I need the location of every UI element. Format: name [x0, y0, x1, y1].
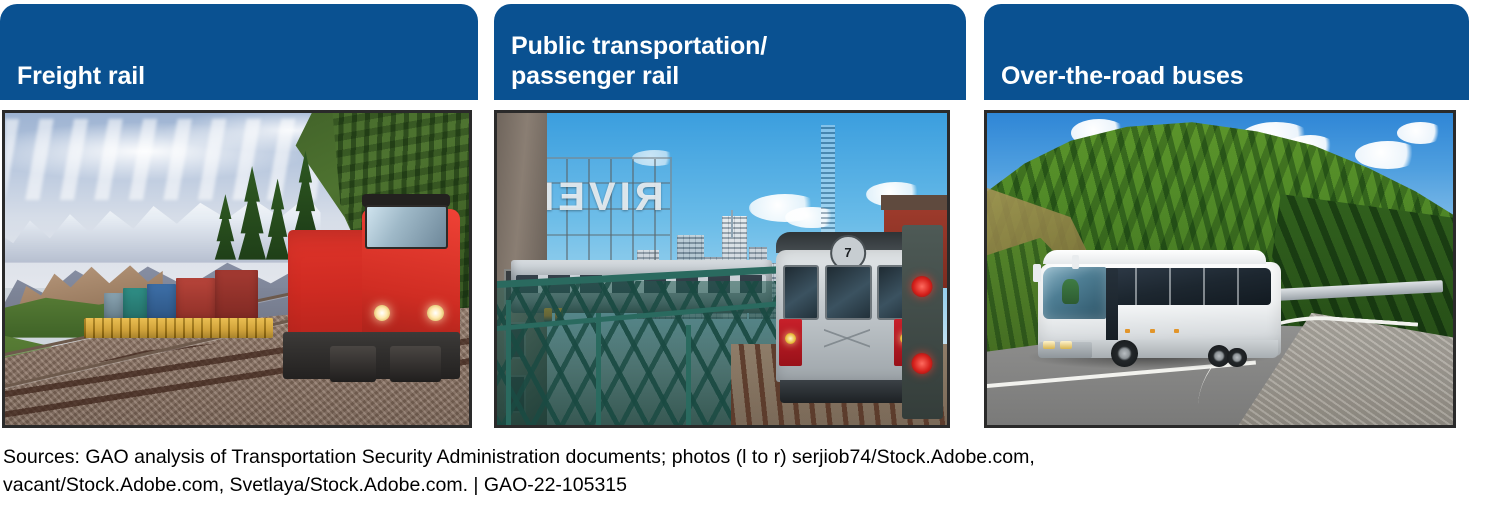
cab-window	[783, 265, 819, 320]
headlight	[427, 305, 443, 321]
support-column	[506, 300, 511, 425]
rear-wheel	[1227, 348, 1246, 367]
entry-door	[1106, 268, 1118, 342]
roof	[881, 195, 947, 210]
panel-title-freight-rail: Freight rail	[0, 61, 161, 100]
cab-windshield	[365, 205, 448, 249]
photo-motorcoach	[987, 113, 1453, 425]
subway-train-seven: 7	[776, 232, 920, 400]
support-column	[686, 325, 691, 425]
wayside-signal	[902, 225, 943, 418]
headlight	[1060, 341, 1072, 349]
photo-frame-public-transportation: RIVER	[494, 110, 950, 428]
headlight	[374, 305, 390, 321]
cloud	[1397, 122, 1444, 144]
panel-header-freight-rail: Freight rail	[0, 4, 478, 100]
transportation-mode-panels: Freight rail	[0, 0, 1502, 432]
red-signal-lamp	[912, 276, 933, 297]
photo-freight-rail	[5, 113, 469, 425]
window-mullions	[1101, 268, 1271, 305]
headlight	[1043, 341, 1055, 349]
photo-subway-train: RIVER	[497, 113, 947, 425]
source-note: Sources: GAO analysis of Transportation …	[3, 443, 1463, 499]
side-mirror	[1033, 264, 1040, 282]
panel-title-public-transportation: Public transportation/ passenger rail	[494, 31, 783, 100]
photo-frame-freight-rail	[2, 110, 472, 428]
building-spire	[731, 210, 733, 238]
front-wheel	[1111, 340, 1138, 367]
side-marker-light	[1125, 329, 1130, 333]
front-door-window	[825, 265, 872, 320]
panel-header-over-the-road-buses: Over-the-road buses	[984, 4, 1469, 100]
panel-header-public-transportation: Public transportation/ passenger rail	[494, 4, 966, 100]
locomotive-truck	[390, 346, 441, 382]
side-mirror	[1072, 255, 1079, 270]
billboard-text: RIVER	[527, 175, 664, 224]
locomotive	[228, 194, 460, 375]
photo-frame-over-the-road-buses	[984, 110, 1456, 428]
train-coupler-skirt	[780, 380, 915, 404]
support-column	[596, 313, 601, 425]
side-marker-light	[1174, 329, 1179, 333]
passenger-window-strip	[1101, 268, 1271, 305]
motorcoach-bus	[1038, 250, 1280, 362]
panel-title-over-the-road-buses: Over-the-road buses	[984, 61, 1260, 100]
side-marker-light	[1150, 329, 1155, 333]
door-chevron	[824, 323, 870, 353]
driver	[1062, 279, 1079, 304]
red-signal-lamp	[912, 353, 933, 374]
locomotive-truck	[330, 346, 376, 382]
